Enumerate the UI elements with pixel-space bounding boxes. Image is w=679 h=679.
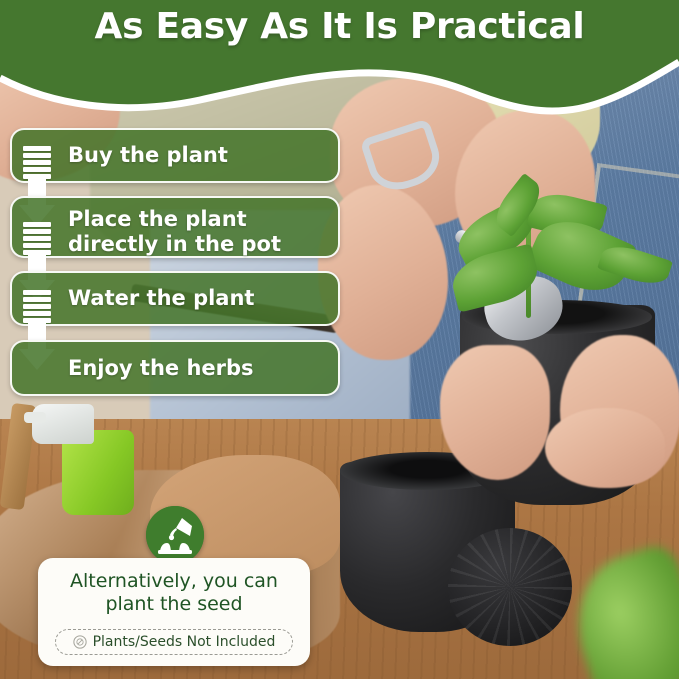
step-label: Enjoy the herbs <box>68 356 328 381</box>
product-infographic: As Easy As It Is Practical Buy the plant… <box>0 0 679 679</box>
hand-planting-seed-icon <box>146 506 204 564</box>
step-label: Place the plant directly in the pot <box>68 207 328 257</box>
disclaimer-text: Plants/Seeds Not Included <box>93 634 276 650</box>
step-box-water-the-plant[interactable]: Water the plant <box>10 271 340 326</box>
spray-bottle-nozzle <box>24 412 46 423</box>
step-label: Water the plant <box>68 286 328 311</box>
disclaimer-pill: Plants/Seeds Not Included <box>55 629 293 655</box>
page-title: As Easy As It Is Practical <box>0 6 679 47</box>
step-label: Buy the plant <box>68 143 328 168</box>
step-box-place-the-plant[interactable]: Place the plant directly in the pot <box>10 196 340 258</box>
step-box-buy-the-plant[interactable]: Buy the plant <box>10 128 340 183</box>
saucer-ribs <box>448 528 572 646</box>
alternative-card: Alternatively, you can plant the seed Pl… <box>38 558 310 666</box>
no-plants-icon <box>73 635 87 649</box>
hand-lower <box>545 408 665 488</box>
spray-bottle-head <box>32 404 94 444</box>
hand-holding-pot-left <box>440 345 550 480</box>
step-box-enjoy-the-herbs[interactable]: Enjoy the herbs <box>10 340 340 396</box>
alternative-title: Alternatively, you can plant the seed <box>38 570 310 616</box>
